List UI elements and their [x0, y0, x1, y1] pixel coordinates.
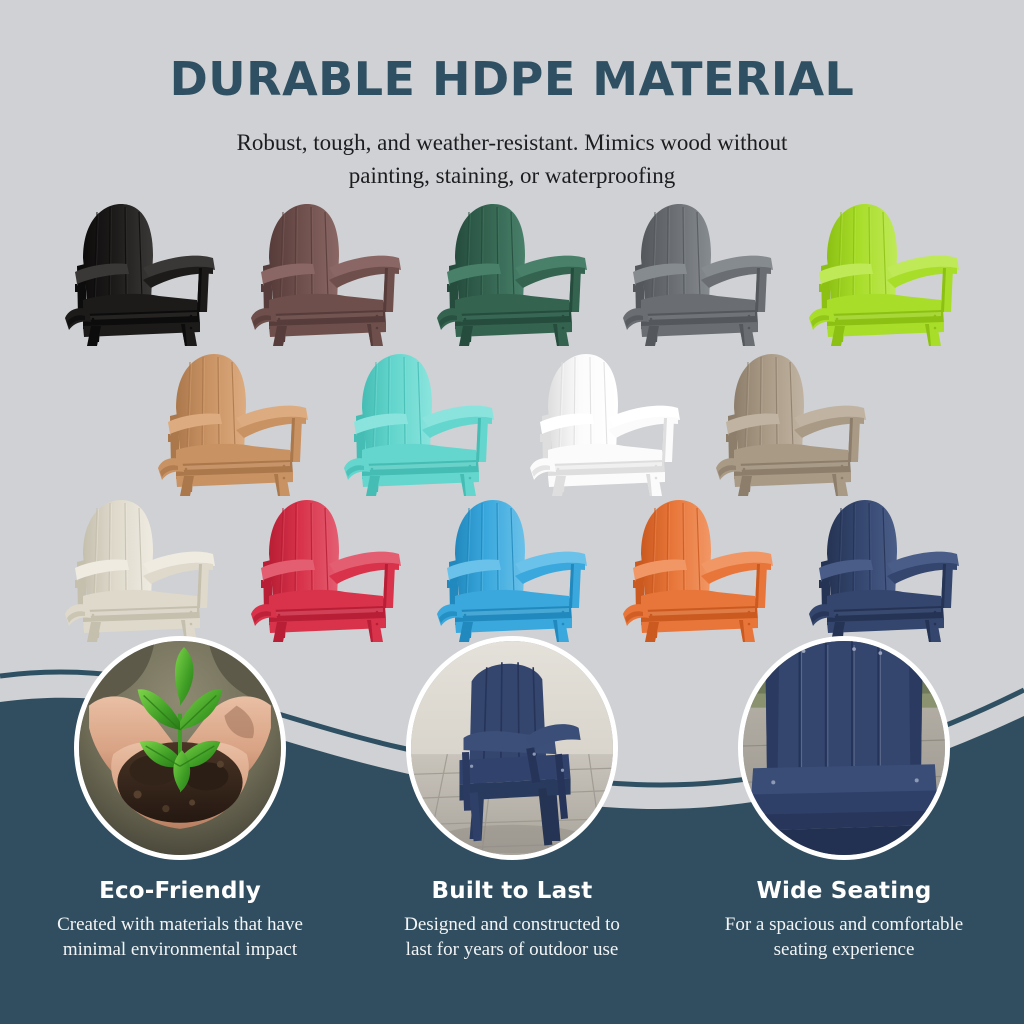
subtitle-line-1: Robust, tough, and weather-resistant. Mi…: [0, 126, 1024, 159]
chair-swatch: [698, 346, 884, 496]
feature-desc-line-2: last for years of outdoor use: [347, 938, 677, 963]
chair-swatch: [233, 196, 419, 346]
feature-desc-line-1: For a spacious and comfortable: [679, 913, 1009, 938]
chair-swatch: [791, 196, 977, 346]
feature-image-wrap: [738, 636, 950, 860]
feature-eco-friendly: Eco-Friendly Created with materials that…: [15, 636, 345, 962]
chair-swatch: [512, 346, 698, 496]
chair-swatch: [419, 492, 605, 642]
feature-title: Built to Last: [347, 860, 677, 904]
feature-desc-line-2: minimal environmental impact: [15, 938, 345, 963]
wide-seat-closeup-photo: [738, 636, 950, 860]
feature-title: Wide Seating: [679, 860, 1009, 904]
chair-swatch: [605, 196, 791, 346]
chair-row-2: [0, 346, 1024, 496]
chair-swatch: [47, 196, 233, 346]
feature-desc-line-1: Created with materials that have: [15, 913, 345, 938]
feature-image-wrap: [406, 636, 618, 860]
chair-swatch: [47, 492, 233, 642]
feature-description: Designed and constructed to last for yea…: [347, 904, 677, 962]
feature-image-wrap: [74, 636, 286, 860]
feature-desc-line-2: seating experience: [679, 938, 1009, 963]
navy-adirondack-chair-photo: [406, 636, 618, 860]
chair-swatch: [605, 492, 791, 642]
header: DURABLE HDPE MATERIAL Robust, tough, and…: [0, 0, 1024, 193]
feature-desc-line-1: Designed and constructed to: [347, 913, 677, 938]
page-title: DURABLE HDPE MATERIAL: [0, 0, 1024, 102]
page-subtitle: Robust, tough, and weather-resistant. Mi…: [0, 102, 1024, 193]
hands-holding-seedling-photo: [74, 636, 286, 860]
chair-swatch: [791, 492, 977, 642]
chair-row-1: [0, 196, 1024, 346]
feature-wide-seating: Wide Seating For a spacious and comforta…: [679, 636, 1009, 962]
feature-title: Eco-Friendly: [15, 860, 345, 904]
chair-swatch: [326, 346, 512, 496]
subtitle-line-2: painting, staining, or waterproofing: [0, 159, 1024, 192]
chair-row-3: [0, 492, 1024, 642]
chair-color-grid: [0, 196, 1024, 651]
chair-swatch: [419, 196, 605, 346]
feature-built-to-last: Built to Last Designed and constructed t…: [347, 636, 677, 962]
infographic-canvas: DURABLE HDPE MATERIAL Robust, tough, and…: [0, 0, 1024, 1024]
chair-swatch: [233, 492, 419, 642]
chair-swatch: [140, 346, 326, 496]
feature-description: For a spacious and comfortable seating e…: [679, 904, 1009, 962]
feature-description: Created with materials that have minimal…: [15, 904, 345, 962]
